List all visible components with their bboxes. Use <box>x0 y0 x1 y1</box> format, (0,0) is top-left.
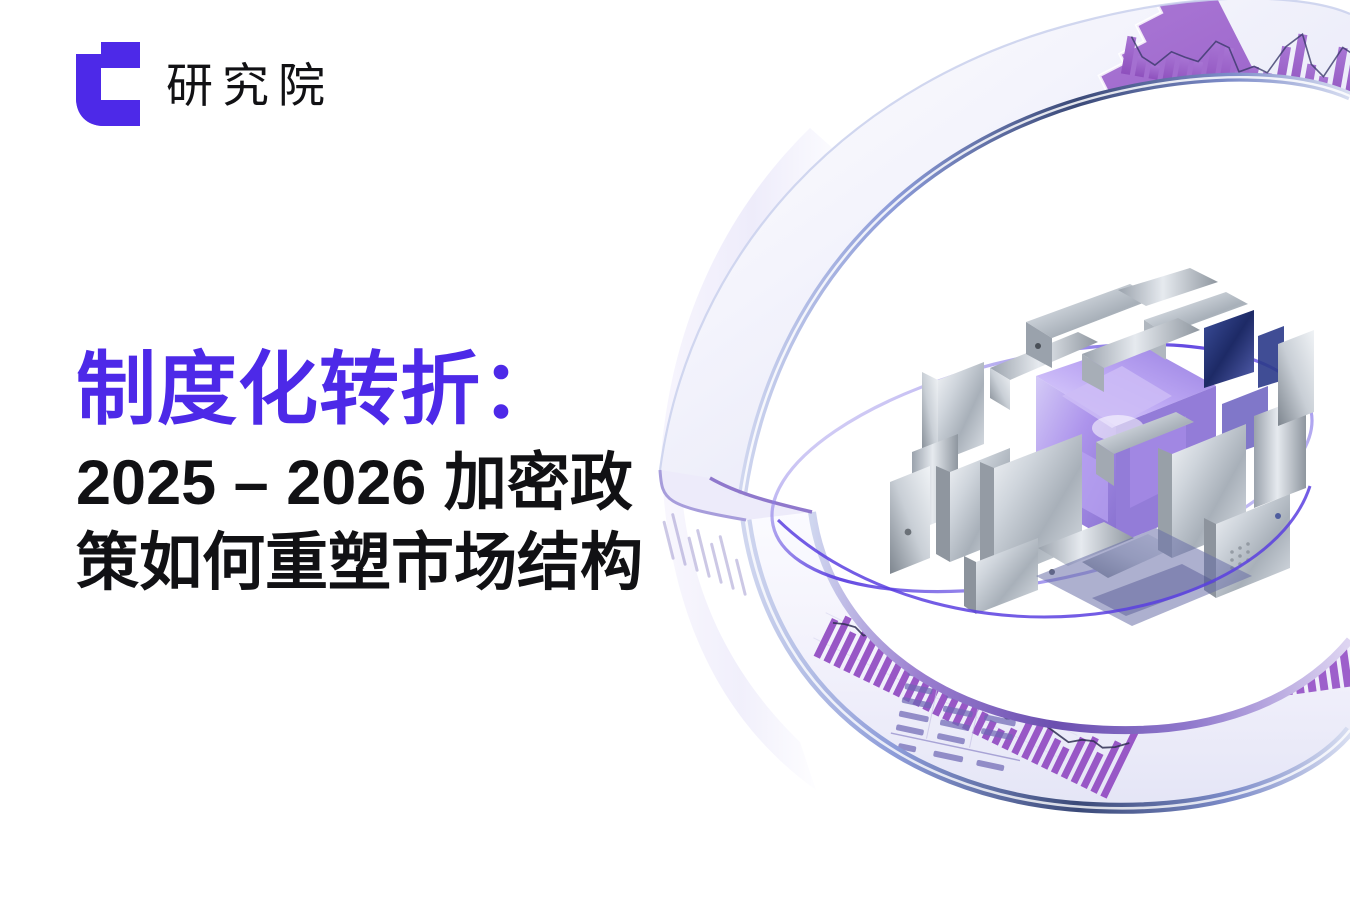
ring-top-axis-ticks <box>846 195 1263 420</box>
cube-glass-core <box>1036 342 1216 544</box>
artwork-svg <box>650 0 1350 900</box>
ring-bottom-data-table <box>888 579 1053 775</box>
cube-metal-plates-bottom <box>964 412 1194 614</box>
cube-blue-panels <box>1204 310 1284 458</box>
headline-block: 制度化转折： 2025 – 2026 加密政 策如何重塑市场结构 <box>76 348 716 604</box>
cube-metal-plates-top <box>990 268 1248 410</box>
cube-base-plate <box>1036 528 1252 626</box>
ring-top-area-chart <box>720 0 1350 542</box>
brand-name: 研究院 <box>166 62 334 109</box>
orbit-ring-icon <box>750 301 1335 634</box>
page-subtitle-line-1: 2025 – 2026 加密政 <box>76 443 716 524</box>
exploded-cube-object <box>890 268 1314 626</box>
ring-bottom-right-bar-chart <box>1059 573 1350 725</box>
ring-band-top <box>660 0 1350 542</box>
plate-perforations <box>1230 542 1250 570</box>
ring-band-bottom <box>746 512 1350 808</box>
brand-c-mark-icon <box>68 42 140 128</box>
page-subtitle-line-2: 策如何重塑市场结构 <box>76 523 716 604</box>
poster-canvas: 研究院 制度化转折： 2025 – 2026 加密政 策如何重塑市场结构 <box>0 0 1350 900</box>
cube-metal-plates-left <box>890 362 1082 582</box>
ring-bottom-left-bar-chart <box>806 562 1150 798</box>
page-title: 制度化转折： <box>76 348 716 433</box>
brand-lockup: 研究院 <box>68 42 334 128</box>
orbit-ring-front-icon <box>778 486 1310 617</box>
ring-top-right-bar-chart <box>1121 4 1350 113</box>
data-ring-artwork <box>650 0 1350 900</box>
cube-metal-plates-right <box>1158 330 1314 598</box>
